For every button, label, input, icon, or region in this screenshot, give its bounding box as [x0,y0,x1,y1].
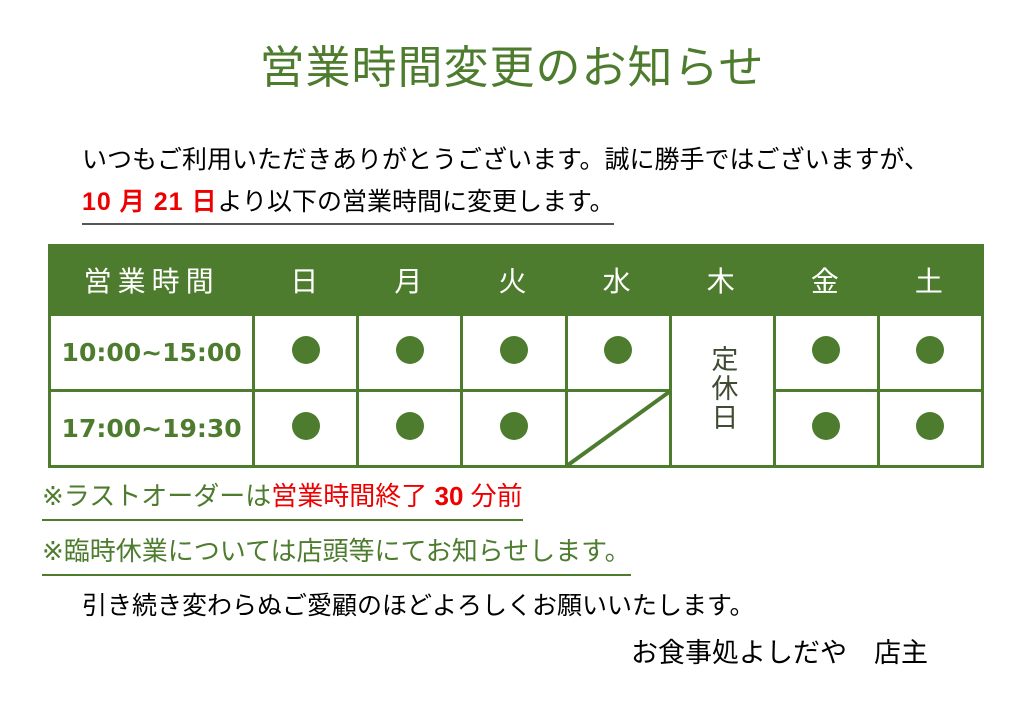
closing-message: 引き続き変わらぬご愛顧のほどよろしくお願いいたします。 [82,588,755,624]
open-dot-icon [500,336,528,364]
open-dot-icon [292,412,320,440]
header-day-wednesday: 水 [566,246,670,315]
note-temporary-closure: ※臨時休業については店頭等にてお知らせします。 [42,529,631,576]
cell-dinner-friday [774,391,878,467]
table-row: 17:00~19:30 [50,391,983,467]
open-dot-icon [604,336,632,364]
note-last-order-red: 営業時間終了 [271,481,434,511]
signature: お食事処よしだや 店主 [0,634,1024,672]
cell-dinner-sunday [254,391,358,467]
open-dot-icon [916,336,944,364]
header-day-tuesday: 火 [462,246,566,315]
business-hours-table-wrapper: 営業時間 日 月 火 水 木 金 土 10:00~15:00 [48,244,984,468]
note-last-order-red-suffix: 分前 [463,481,522,511]
note-row-1: ※ラストオーダーは営業時間終了 30 分前 [42,474,982,521]
open-dot-icon [396,336,424,364]
table-row: 10:00~15:00 定休日 [50,315,983,391]
cell-dinner-wednesday-unavailable [566,391,670,467]
cell-lunch-wednesday [566,315,670,391]
table-header-row: 営業時間 日 月 火 水 木 金 土 [50,246,983,315]
note-last-order: ※ラストオーダーは営業時間終了 30 分前 [42,474,523,521]
header-day-friday: 金 [774,246,878,315]
regular-holiday-label: 定休日 [707,345,737,432]
intro-line-1: いつもご利用いただきありがとうございます。誠に勝手ではございますが、 [82,140,962,180]
open-dot-icon [812,412,840,440]
open-dot-icon [812,336,840,364]
diagonal-slash-icon [568,392,669,465]
notes-block: ※ラストオーダーは営業時間終了 30 分前 ※臨時休業については店頭等にてお知ら… [42,474,982,576]
row-label-dinner: 17:00~19:30 [50,391,254,467]
note-row-2: ※臨時休業については店頭等にてお知らせします。 [42,529,982,576]
row-label-lunch: 10:00~15:00 [50,315,254,391]
cell-lunch-saturday [878,315,982,391]
cell-dinner-monday [358,391,462,467]
business-hours-table: 営業時間 日 月 火 水 木 金 土 10:00~15:00 [48,244,984,468]
header-day-saturday: 土 [878,246,982,315]
note-last-order-minutes: 30 [435,481,464,511]
intro-line-2-rest: より以下の営業時間に変更します。 [217,188,614,216]
header-day-thursday: 木 [670,246,774,315]
open-dot-icon [396,412,424,440]
header-hours-label: 営業時間 [50,246,254,315]
cell-lunch-monday [358,315,462,391]
header-day-sunday: 日 [254,246,358,315]
cell-lunch-friday [774,315,878,391]
page-title: 営業時間変更のお知らせ [0,40,1024,96]
open-dot-icon [916,412,944,440]
business-hours-notice-page: { "document": { "title": "営業時間変更のお知らせ", … [0,0,1024,706]
open-dot-icon [292,336,320,364]
intro-line-2: 10 月 21 日より以下の営業時間に変更します。 [82,182,614,225]
note-last-order-prefix: ※ラストオーダーは [42,481,271,511]
cell-dinner-saturday [878,391,982,467]
cell-thursday-regular-holiday: 定休日 [670,315,774,467]
cell-lunch-sunday [254,315,358,391]
intro-paragraph: いつもご利用いただきありがとうございます。誠に勝手ではございますが、 10 月 … [82,140,962,225]
header-day-monday: 月 [358,246,462,315]
open-dot-icon [500,412,528,440]
effective-date: 10 月 21 日 [82,188,217,216]
cell-lunch-tuesday [462,315,566,391]
cell-dinner-tuesday [462,391,566,467]
